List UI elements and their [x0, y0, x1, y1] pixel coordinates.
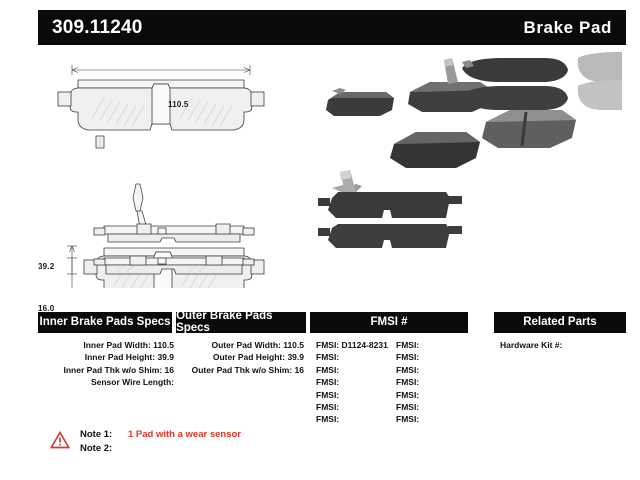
column-header-inner-specs: Inner Brake Pads Specs	[38, 312, 172, 333]
outer-specs-column: Outer Pad Width: 110.5 Outer Pad Height:…	[178, 339, 310, 426]
specs-table-header-row: Inner Brake Pads Specs Outer Brake Pads …	[38, 312, 626, 333]
column-header-related-parts: Related Parts	[494, 312, 626, 333]
note-2-row: Note 2:	[80, 442, 241, 456]
dimension-label-height: 39.2	[38, 262, 54, 271]
warning-triangle-icon	[50, 430, 70, 450]
header-bar: 309.11240 Brake Pad	[38, 10, 626, 45]
product-photos	[310, 48, 630, 288]
note-1-value: 1 Pad with a wear sensor	[124, 428, 241, 442]
outer-spec-row: Outer Pad Height: 39.9	[178, 351, 304, 363]
fmsi-row: FMSI:	[316, 351, 396, 363]
fmsi-row: FMSI:	[316, 376, 396, 388]
outer-spec-row: Outer Pad Thk w/o Shim: 16	[178, 364, 304, 376]
fmsi-row: FMSI:	[396, 389, 476, 401]
dimension-label-width: 110.5	[168, 100, 189, 109]
column-header-outer-specs: Outer Brake Pads Specs	[176, 312, 306, 333]
inner-specs-column: Inner Pad Width: 110.5 Inner Pad Height:…	[38, 339, 178, 426]
note-1-label: Note 1:	[80, 428, 124, 442]
specs-table-body: Inner Pad Width: 110.5 Inner Pad Height:…	[38, 339, 626, 426]
fmsi-row: FMSI:	[396, 413, 476, 425]
fmsi-row: FMSI:	[396, 376, 476, 388]
fmsi-row: FMSI:	[316, 389, 396, 401]
fmsi-row: FMSI:	[316, 401, 396, 413]
column-header-fmsi: FMSI #	[310, 312, 468, 333]
specs-table: Inner Brake Pads Specs Outer Brake Pads …	[38, 312, 626, 426]
related-part-row: Hardware Kit #:	[500, 339, 616, 351]
page-title: Brake Pad	[523, 19, 612, 36]
fmsi-row: FMSI:	[396, 401, 476, 413]
photo-grid-pads	[462, 52, 622, 110]
fmsi-subcolumn-2: FMSI: FMSI: FMSI: FMSI: FMSI: FMSI: FMSI…	[396, 339, 476, 426]
fmsi-row: FMSI:	[396, 364, 476, 376]
fmsi-subcolumn-1: FMSI: D1124-8231 FMSI: FMSI: FMSI: FMSI:…	[316, 339, 396, 426]
fmsi-row: FMSI:	[396, 339, 476, 351]
note-2-value	[124, 442, 128, 456]
related-parts-column: Hardware Kit #:	[476, 339, 616, 426]
inner-spec-row: Inner Pad Height: 39.9	[38, 351, 174, 363]
notes-section: Note 1: 1 Pad with a wear sensor Note 2:	[50, 428, 241, 455]
inner-spec-row: Sensor Wire Length:	[38, 376, 174, 388]
notes-text: Note 1: 1 Pad with a wear sensor Note 2:	[80, 428, 241, 455]
photo-stacked-pads	[318, 170, 462, 248]
fmsi-row: FMSI:	[316, 364, 396, 376]
note-2-label: Note 2:	[80, 442, 124, 456]
fmsi-row: FMSI: D1124-8231	[316, 339, 396, 351]
inner-spec-row: Inner Pad Thk w/o Shim: 16	[38, 364, 174, 376]
fmsi-column: FMSI: D1124-8231 FMSI: FMSI: FMSI: FMSI:…	[310, 339, 476, 426]
fmsi-row: FMSI:	[316, 413, 396, 425]
inner-spec-row: Inner Pad Width: 110.5	[38, 339, 174, 351]
part-number: 309.11240	[52, 18, 143, 37]
note-1-row: Note 1: 1 Pad with a wear sensor	[80, 428, 241, 442]
outer-spec-row: Outer Pad Width: 110.5	[178, 339, 304, 351]
product-spec-sheet: 309.11240 Brake Pad	[0, 0, 640, 480]
photos-svg	[310, 48, 630, 288]
technical-drawings: 110.5 39.2 16.0	[0, 48, 310, 288]
fmsi-row: FMSI:	[396, 351, 476, 363]
